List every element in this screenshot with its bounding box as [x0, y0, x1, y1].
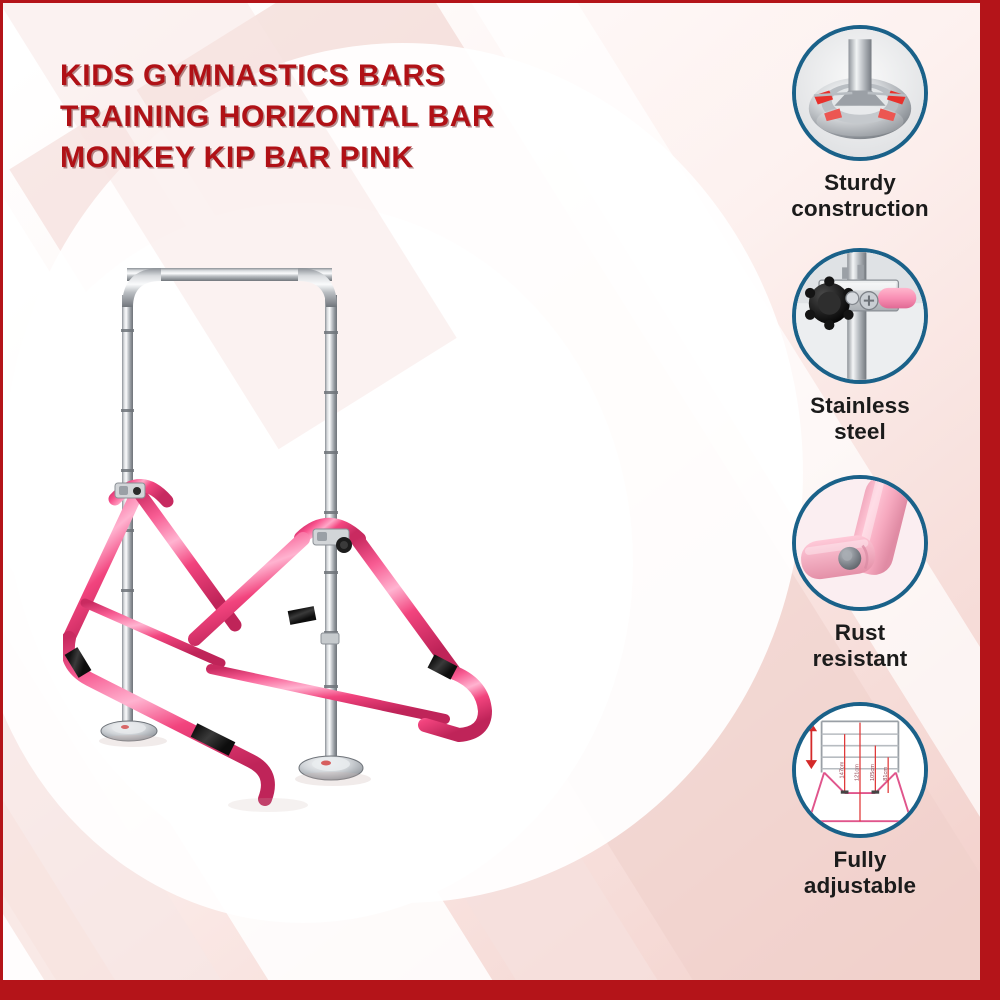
brace-clamp-mid: [321, 633, 339, 644]
feature-fully-adjustable: 147cm 121cm 105cm 81cm: [754, 690, 966, 919]
svg-text:81cm: 81cm: [883, 767, 889, 781]
svg-text:121cm: 121cm: [855, 764, 861, 781]
product-poster: KIDS GYMNASTICS BARS TRAINING HORIZONTAL…: [0, 0, 1000, 1000]
feature-sturdy-construction: Sturdy construction: [754, 3, 966, 232]
base-foot-photo-icon: [792, 25, 928, 161]
height-adjustment-diagram-icon: 147cm 121cm 105cm 81cm: [792, 702, 928, 838]
page-title: KIDS GYMNASTICS BARS TRAINING HORIZONTAL…: [60, 55, 680, 178]
feature-stainless-steel: Stainless steel: [754, 232, 966, 461]
feature-label: Stainless steel: [810, 393, 910, 445]
product-image: [63, 233, 763, 933]
title-line-1: KIDS GYMNASTICS BARS: [60, 55, 680, 96]
feature-callout-list: Sturdy construction: [754, 3, 966, 980]
poster-inner-panel: KIDS GYMNASTICS BARS TRAINING HORIZONTAL…: [3, 3, 980, 980]
title-line-3: MONKEY KIP BAR PINK: [60, 137, 680, 178]
feature-label: Sturdy construction: [791, 170, 928, 222]
pink-tube-joint-photo-icon: [792, 475, 928, 611]
svg-text:147cm: 147cm: [839, 761, 845, 778]
feature-label: Rust resistant: [813, 620, 908, 672]
feature-label: Fully adjustable: [804, 847, 916, 899]
clamp-knob-photo-icon: [792, 248, 928, 384]
feature-rust-resistant: Rust resistant: [754, 461, 966, 690]
clamp-bracket-left: [115, 483, 145, 498]
svg-text:105cm: 105cm: [870, 764, 876, 781]
title-line-2: TRAINING HORIZONTAL BAR: [60, 96, 680, 137]
